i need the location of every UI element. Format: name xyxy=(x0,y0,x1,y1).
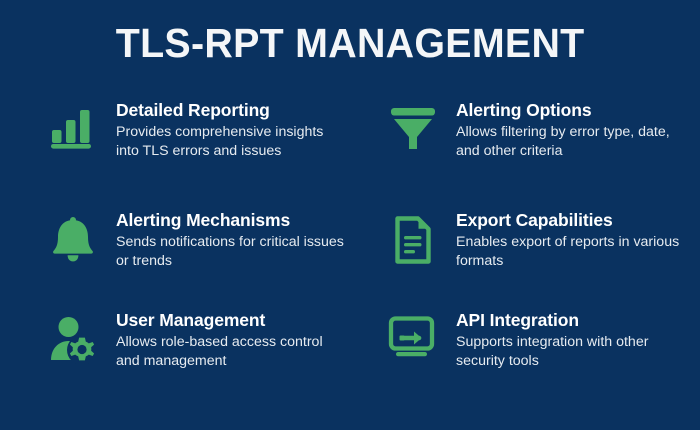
feature-description: Supports integration with other security… xyxy=(456,333,691,370)
funnel-filter-icon xyxy=(384,100,442,158)
user-gear-icon xyxy=(44,310,102,368)
feature-title: Alerting Options xyxy=(456,100,700,120)
feature-item-user-management: User Management Allows role-based access… xyxy=(44,310,374,410)
feature-text-block: Detailed Reporting Provides comprehensiv… xyxy=(116,100,374,161)
document-lines-icon xyxy=(384,210,442,268)
feature-item-detailed-reporting: Detailed Reporting Provides comprehensiv… xyxy=(44,100,374,210)
monitor-arrow-icon xyxy=(384,310,442,368)
feature-item-api-integration: API Integration Supports integration wit… xyxy=(384,310,700,410)
tls-rpt-management-poster: TLS-RPT MANAGEMENT Detailed Reporting Pr… xyxy=(0,0,700,430)
bar-chart-icon xyxy=(44,100,102,158)
feature-text-block: Export Capabilities Enables export of re… xyxy=(456,210,700,271)
feature-grid: Detailed Reporting Provides comprehensiv… xyxy=(0,100,700,430)
feature-title: Alerting Mechanisms xyxy=(116,210,374,230)
feature-item-alerting-options: Alerting Options Allows filtering by err… xyxy=(384,100,700,210)
feature-item-export-capabilities: Export Capabilities Enables export of re… xyxy=(384,210,700,310)
poster-header: TLS-RPT MANAGEMENT xyxy=(0,0,700,86)
feature-description: Allows filtering by error type, date, an… xyxy=(456,123,691,160)
feature-title: User Management xyxy=(116,310,374,330)
feature-text-block: Alerting Options Allows filtering by err… xyxy=(456,100,700,161)
feature-text-block: User Management Allows role-based access… xyxy=(116,310,374,371)
page-title: TLS-RPT MANAGEMENT xyxy=(116,23,585,64)
feature-text-block: Alerting Mechanisms Sends notifications … xyxy=(116,210,374,271)
bell-icon xyxy=(44,210,102,268)
feature-item-alerting-mechanisms: Alerting Mechanisms Sends notifications … xyxy=(44,210,374,310)
feature-title: Export Capabilities xyxy=(456,210,700,230)
feature-description: Sends notifications for critical issues … xyxy=(116,233,346,270)
feature-description: Allows role-based access control and man… xyxy=(116,333,346,370)
feature-title: Detailed Reporting xyxy=(116,100,374,120)
feature-description: Provides comprehensive insights into TLS… xyxy=(116,123,346,160)
feature-description: Enables export of reports in various for… xyxy=(456,233,691,270)
feature-title: API Integration xyxy=(456,310,700,330)
feature-text-block: API Integration Supports integration wit… xyxy=(456,310,700,371)
